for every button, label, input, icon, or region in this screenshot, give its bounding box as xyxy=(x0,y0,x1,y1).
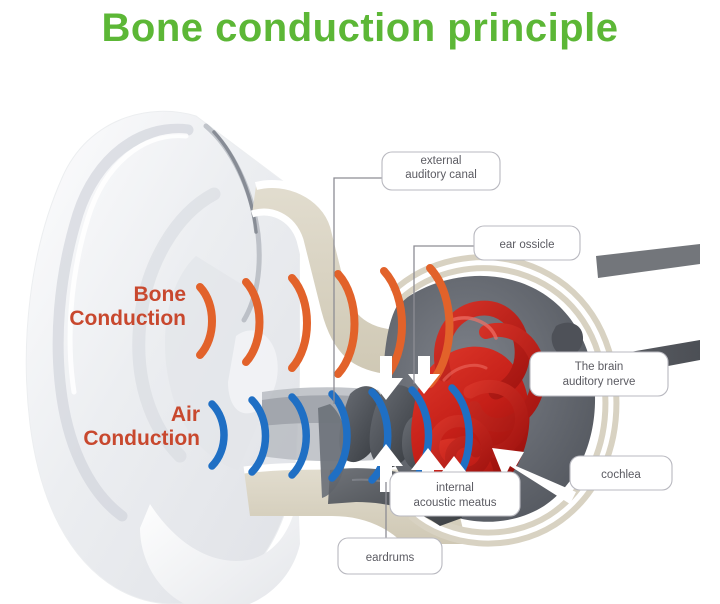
callout-label-line2: auditory nerve xyxy=(563,376,636,388)
callout-label-line2: auditory canal xyxy=(405,169,477,181)
page-title: Bone conduction principle xyxy=(0,6,720,51)
callout-label-line2: acoustic meatus xyxy=(413,497,496,509)
callout-label-line1: ear ossicle xyxy=(500,239,555,251)
callout-label-line1: external xyxy=(421,155,462,167)
air-conduction-line2: Conduction xyxy=(83,427,200,450)
air-conduction-line1: Air xyxy=(171,403,200,426)
callout-label-line1: The brain xyxy=(575,361,624,373)
callout-internal-acoustic-meatus: internal acoustic meatus xyxy=(390,472,520,516)
callout-label-line1: internal xyxy=(436,482,474,494)
callout-label-line1: cochlea xyxy=(601,469,641,481)
bone-conduction-line1: Bone xyxy=(134,283,187,306)
ear-anatomy-diagram: external auditory canal ear ossicle The … xyxy=(0,74,720,604)
callout-external-auditory-canal: external auditory canal xyxy=(382,152,500,190)
callout-ear-ossicle: ear ossicle xyxy=(474,226,580,260)
bone-conduction-line2: Conduction xyxy=(69,307,186,330)
callout-label-line1: eardrums xyxy=(366,552,415,564)
callout-the-brain-auditory-nerve: The brain auditory nerve xyxy=(530,352,668,396)
callout-cochlea: cochlea xyxy=(570,456,672,490)
bone-conduction-principle-figure: Bone conduction principle xyxy=(0,0,720,604)
callout-eardrums: eardrums xyxy=(338,538,442,574)
